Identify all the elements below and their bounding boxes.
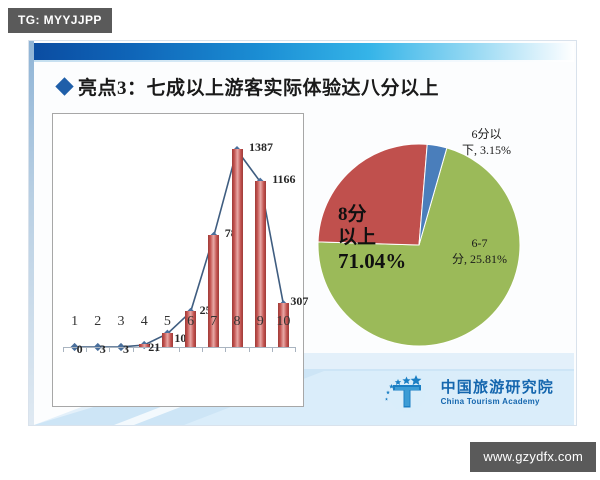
pie-label-6-to-7-line1: 6-7 [472,236,488,250]
x-axis-label: 9 [257,314,264,330]
pie-label-below-6-line1: 6分以 [471,127,501,141]
organization-logo: 中国旅游研究院 China Tourism Academy [382,372,554,414]
bar-line-combo-chart: 013233214100525367867138781166930710 [52,113,304,407]
pie-label-below-6: 6分以 下, 3.15% [462,126,511,158]
x-axis-tick [295,347,296,352]
x-axis-label: 2 [94,314,101,330]
bar-data-label: 3 [123,342,129,357]
x-axis-tick [133,347,134,352]
x-axis-label: 1 [71,314,78,330]
bar-data-label: 0 [77,342,83,357]
source-tag: TG: MYYJJPP [8,8,112,33]
bar-data-label: 21 [148,340,160,355]
line-path [75,150,284,347]
bar-data-label: 1387 [249,140,273,155]
pie-label-6-to-7: 6-7 分, 25.81% [452,235,507,267]
watermark: www.gzydfx.com [470,442,596,472]
pie-chart: 6分以 下, 3.15% 6-7 分, 25.81% 8分 以上 71.04% [316,110,571,360]
bar [162,333,173,347]
pie-label-6-to-7-line2: 分, 25.81% [452,252,507,266]
x-axis-label: 10 [276,314,290,330]
chart-plot-area: 013233214100525367867138781166930710 [63,128,295,348]
pie-label-above-8-percent: 71.04% [338,249,406,273]
slide-header-bar-edge [34,60,574,62]
x-axis-tick [63,347,64,352]
slide-title: 亮点3：七成以上游客实际体验达八分以上 [58,73,439,100]
bar-data-label: 1166 [272,172,295,187]
x-axis-tick [179,347,180,352]
slide-header-gradient-bar [34,43,574,60]
pie-label-below-6-line2: 下, 3.15% [462,143,511,157]
x-axis-label: 4 [141,314,148,330]
logo-name-cn: 中国旅游研究院 [441,381,554,396]
x-axis-tick [202,347,203,352]
bar-data-label: 3 [100,342,106,357]
x-axis-label: 3 [118,314,125,330]
x-axis-tick [109,347,110,352]
x-axis-tick [249,347,250,352]
x-axis-label: 8 [234,314,241,330]
logo-text: 中国旅游研究院 China Tourism Academy [441,381,554,406]
x-axis-tick [225,347,226,352]
screenshot-root: TG: MYYJJPP [0,0,600,480]
tourism-academy-logo-icon [382,372,434,414]
pie-label-above-8: 8分 以上 71.04% [338,203,406,275]
x-axis-label: 7 [210,314,217,330]
page-title: 亮点3：七成以上游客实际体验达八分以上 [78,73,439,100]
x-axis-tick [272,347,273,352]
x-axis-tick [86,347,87,352]
diamond-icon [55,77,73,95]
x-axis-label: 5 [164,314,171,330]
bar-data-label: 307 [290,294,308,309]
pie-label-above-8-line1: 8分 [338,204,367,225]
bar [208,235,219,347]
logo-name-en: China Tourism Academy [441,398,554,406]
pie-label-above-8-line2: 以上 [338,227,376,248]
x-axis-label: 6 [187,314,194,330]
